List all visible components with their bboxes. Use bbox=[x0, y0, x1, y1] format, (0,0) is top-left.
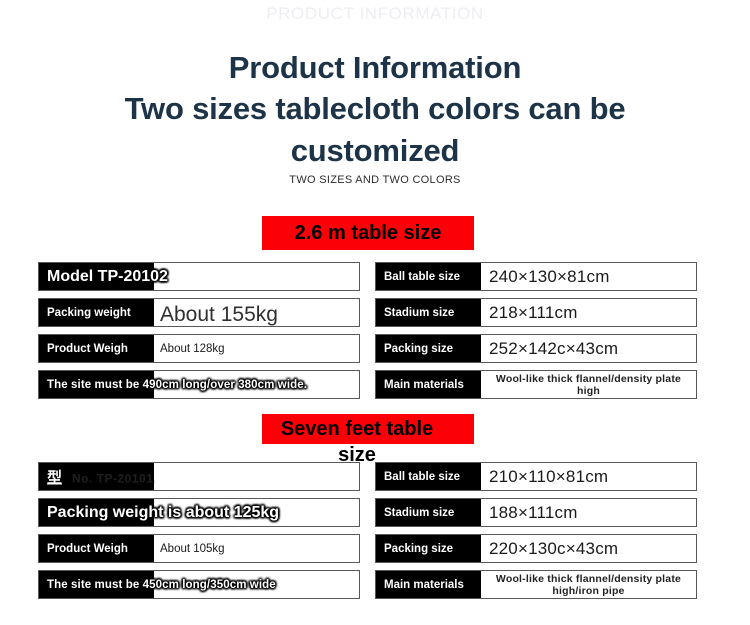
row-label-packing-weight bbox=[39, 499, 154, 526]
row-label-model bbox=[39, 263, 154, 290]
table-row: Stadium size 188×111cm bbox=[375, 498, 697, 527]
row-label-ball-table-size: Ball table size bbox=[376, 263, 481, 290]
row-value-ball-table-size: 210×110×81cm bbox=[481, 463, 696, 490]
row-label-product-weight: Product Weigh bbox=[39, 535, 154, 562]
row-value-model bbox=[154, 463, 359, 490]
row-label-packing-size: Packing size bbox=[376, 335, 481, 362]
spec-table-right-section-1: Ball table size 240×130×81cm Stadium siz… bbox=[375, 262, 697, 406]
section-banner-2-6m: 2.6 m table size bbox=[262, 216, 474, 250]
row-value-packing-weight bbox=[154, 499, 359, 526]
row-label-site-requirement bbox=[39, 571, 154, 598]
table-row: Main materials Wool-like thick flannel/d… bbox=[375, 570, 697, 599]
row-value-main-materials: Wool-like thick flannel/density plate hi… bbox=[481, 571, 696, 598]
title-line-2: Two sizes tablecloth colors can be bbox=[0, 88, 750, 130]
section-banner-seven-feet: Seven feet table size bbox=[262, 414, 474, 444]
table-row: Packing weight is about 125kg bbox=[38, 498, 360, 527]
banner-label: Seven feet table size bbox=[262, 416, 452, 468]
row-label-ball-table-size: Ball table size bbox=[376, 463, 481, 490]
title-line-1: Product Information bbox=[0, 48, 750, 88]
row-label-stadium-size: Stadium size bbox=[376, 299, 481, 326]
table-row: Ball table size 210×110×81cm bbox=[375, 462, 697, 491]
row-value-stadium-size: 218×111cm bbox=[481, 299, 696, 326]
page-subtitle: TWO SIZES AND TWO COLORS bbox=[0, 174, 750, 186]
row-value-product-weight: About 128kg bbox=[154, 335, 359, 362]
table-row: Packing weight About 155kg bbox=[38, 298, 360, 327]
row-label-packing-weight: Packing weight bbox=[39, 299, 154, 326]
row-label-main-materials: Main materials bbox=[376, 371, 481, 398]
table-row: Ball table size 240×130×81cm bbox=[375, 262, 697, 291]
row-value-model bbox=[154, 263, 359, 290]
row-value-packing-size: 252×142c×43cm bbox=[481, 335, 696, 362]
spec-table-left-section-2: 型No. TP-20101 Packing weight is about 12… bbox=[38, 462, 360, 606]
table-row: Packing size 252×142c×43cm bbox=[375, 334, 697, 363]
row-value-site-requirement bbox=[154, 371, 359, 398]
spec-table-left-section-1: Model TP-20102 Packing weight About 155k… bbox=[38, 262, 360, 406]
table-row: Product Weigh About 128kg bbox=[38, 334, 360, 363]
table-row: Product Weigh About 105kg bbox=[38, 534, 360, 563]
row-value-main-materials: Wool-like thick flannel/density plate hi… bbox=[481, 371, 696, 398]
row-value-packing-weight-slot bbox=[154, 299, 359, 326]
row-value-packing-size: 220×130c×43cm bbox=[481, 535, 696, 562]
banner-label: 2.6 m table size bbox=[262, 216, 474, 250]
row-value-stadium-size: 188×111cm bbox=[481, 499, 696, 526]
spec-table-right-section-2: Ball table size 210×110×81cm Stadium siz… bbox=[375, 462, 697, 606]
row-label-model bbox=[39, 463, 154, 490]
row-label-packing-size: Packing size bbox=[376, 535, 481, 562]
table-row: Main materials Wool-like thick flannel/d… bbox=[375, 370, 697, 399]
row-label-main-materials: Main materials bbox=[376, 571, 481, 598]
table-row: Model TP-20102 bbox=[38, 262, 360, 291]
table-row: Packing size 220×130c×43cm bbox=[375, 534, 697, 563]
watermark-heading: PRODUCT INFORMATION bbox=[0, 4, 750, 24]
row-label-stadium-size: Stadium size bbox=[376, 499, 481, 526]
table-row: 型No. TP-20101 bbox=[38, 462, 360, 491]
row-value-site-requirement bbox=[154, 571, 359, 598]
row-label-product-weight: Product Weigh bbox=[39, 335, 154, 362]
row-label-site-requirement bbox=[39, 371, 154, 398]
table-row: Stadium size 218×111cm bbox=[375, 298, 697, 327]
page-title: Product Information Two sizes tablecloth… bbox=[0, 48, 750, 186]
table-row: The site must be 450cm long/350cm wide bbox=[38, 570, 360, 599]
title-line-3: customized bbox=[0, 130, 750, 172]
row-value-ball-table-size: 240×130×81cm bbox=[481, 263, 696, 290]
row-value-product-weight: About 105kg bbox=[154, 535, 359, 562]
table-row: The site must be 490cm long/over 380cm w… bbox=[38, 370, 360, 399]
